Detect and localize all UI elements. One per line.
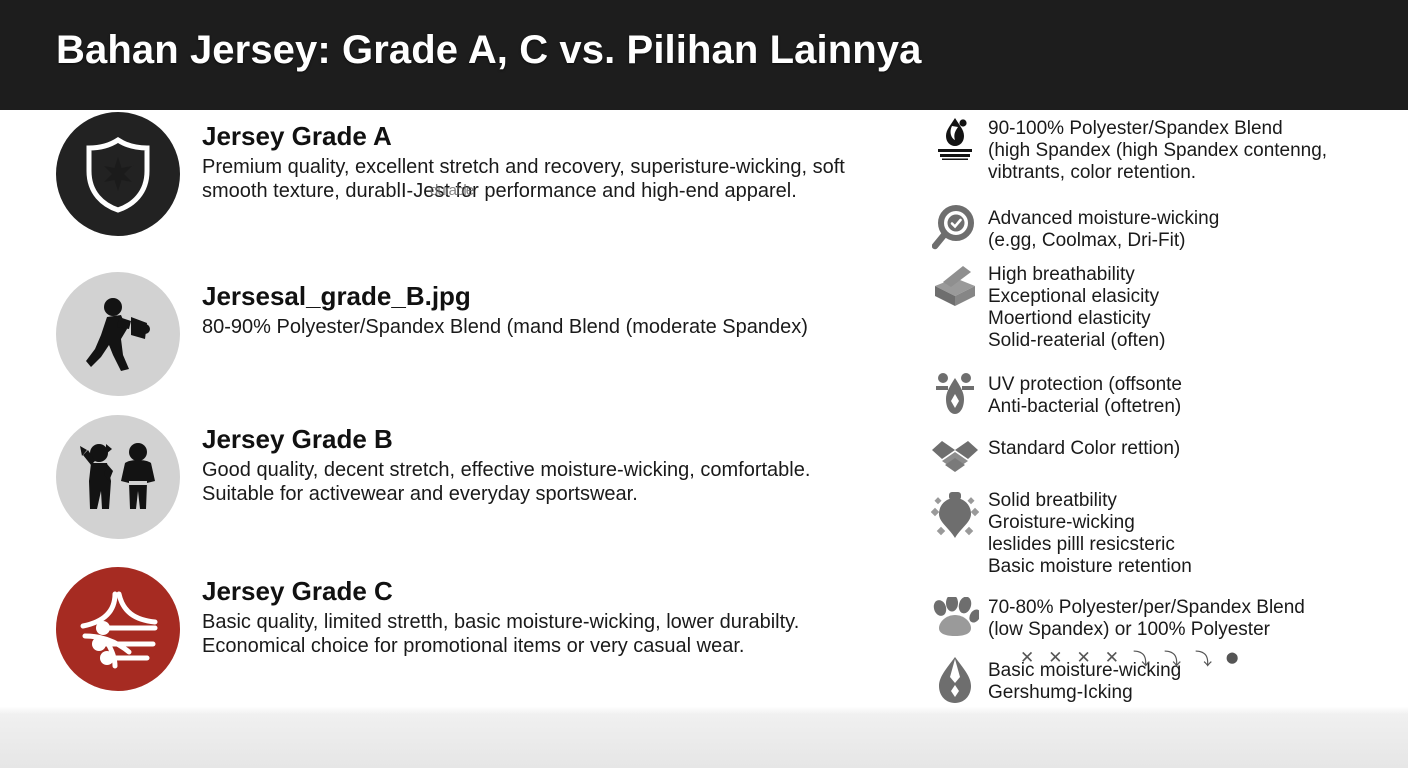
feature-solid-line1: Solid breatbility bbox=[988, 490, 1192, 512]
grade-a-desc-line1: Premium quality, excellent stretch and r… bbox=[202, 155, 845, 179]
paw-print-icon bbox=[930, 595, 980, 639]
open-box-icon bbox=[930, 262, 980, 308]
grade-list: Jersey Grade A Premium quality, excellen… bbox=[56, 112, 916, 712]
feature-solid-lines: Solid breatbility Groisture-wicking lesl… bbox=[988, 488, 1192, 578]
grade-bjpg-title: Jersesal_grade_B.jpg bbox=[202, 282, 808, 311]
two-people-icon bbox=[56, 415, 180, 539]
feature-lowblend-line1: 70-80% Polyester/per/Spandex Blend bbox=[988, 597, 1305, 619]
feature-wicking-line2: (e.gg, Coolmax, Dri-Fit) bbox=[988, 230, 1219, 252]
grade-a-text: Jersey Grade A Premium quality, excellen… bbox=[202, 112, 845, 203]
feature-color-line1: Standard Color rettion) bbox=[988, 438, 1180, 460]
grade-bjpg-desc-line1: 80-90% Polyester/Spandex Blend (mand Ble… bbox=[202, 315, 808, 339]
feature-row-blend[interactable]: 90-100% Polyester/Spandex Blend (high Sp… bbox=[930, 116, 1327, 184]
glyph-hook-1: ⤵ bbox=[1133, 645, 1150, 670]
glyph-cross-1: ✕ bbox=[1020, 648, 1034, 668]
grade-bjpg-text: Jersesal_grade_B.jpg 80-90% Polyester/Sp… bbox=[202, 272, 808, 339]
grade-a-desc: Premium quality, excellent stretch and r… bbox=[202, 155, 845, 203]
feature-row-wicking[interactable]: Advanced moisture-wicking (e.gg, Coolmax… bbox=[930, 206, 1219, 252]
feature-breathability-line2: Exceptional elasicity bbox=[988, 286, 1165, 308]
grade-c-title: Jersey Grade C bbox=[202, 577, 799, 606]
feature-row-lowblend[interactable]: 70-80% Polyester/per/Spandex Blend (low … bbox=[930, 595, 1305, 641]
glyph-dot: ⬤ bbox=[1226, 651, 1238, 664]
glyph-strip: ✕ ✕ ✕ ✕ ⤵ ⤵ ⤵ ⬤ bbox=[1020, 645, 1238, 670]
grade-b-title: Jersey Grade B bbox=[202, 425, 810, 454]
magnifier-check-icon bbox=[930, 206, 980, 250]
feature-wicking-line1: Advanced moisture-wicking bbox=[988, 208, 1219, 230]
running-person-icon bbox=[56, 272, 180, 396]
grade-b-text: Jersey Grade B Good quality, decent stre… bbox=[202, 415, 810, 506]
feature-basic-line2: Gershumg-Icking bbox=[988, 682, 1181, 704]
page-title: Bahan Jersey: Grade A, C vs. Pilihan Lai… bbox=[56, 28, 921, 73]
feature-blend-line3: vibtrants, color retention. bbox=[988, 162, 1327, 184]
glyph-cross-2: ✕ bbox=[1048, 648, 1062, 668]
feature-breathability-line3: Moertiond elasticity bbox=[988, 308, 1165, 330]
feature-breathability-lines: High breathability Exceptional elasicity… bbox=[988, 262, 1165, 352]
grade-a-desc-line2: smooth texture, durablI-Jest for perform… bbox=[202, 179, 845, 203]
grade-row-a[interactable]: Jersey Grade A Premium quality, excellen… bbox=[56, 112, 845, 236]
feature-solid-line3: leslides pilll resicsteric bbox=[988, 534, 1192, 556]
glyph-hook-3: ⤵ bbox=[1195, 645, 1212, 670]
shield-star-icon bbox=[56, 112, 180, 236]
grade-c-desc: Basic quality, limited stretth, basic mo… bbox=[202, 610, 799, 658]
glyph-hook-2: ⤵ bbox=[1164, 645, 1181, 670]
feature-row-solid[interactable]: Solid breatbility Groisture-wicking lesl… bbox=[930, 488, 1192, 578]
feature-blend-lines: 90-100% Polyester/Spandex Blend (high Sp… bbox=[988, 116, 1327, 184]
grade-row-bjpg[interactable]: Jersesal_grade_B.jpg 80-90% Polyester/Sp… bbox=[56, 272, 808, 396]
grade-row-b[interactable]: Jersey Grade B Good quality, decent stre… bbox=[56, 415, 810, 539]
feature-list: 90-100% Polyester/Spandex Blend (high Sp… bbox=[930, 110, 1400, 730]
feature-row-uv[interactable]: UV protection (offsonte Anti-bacterial (… bbox=[930, 372, 1182, 418]
feature-uv-line2: Anti-bacterial (oftetren) bbox=[988, 396, 1182, 418]
feature-breathability-line4: Solid-reaterial (often) bbox=[988, 330, 1165, 352]
feature-uv-lines: UV protection (offsonte Anti-bacterial (… bbox=[988, 372, 1182, 418]
grade-a-title: Jersey Grade A bbox=[202, 122, 845, 151]
glyph-cross-3: ✕ bbox=[1077, 648, 1091, 668]
layers-icon bbox=[930, 436, 980, 480]
feature-row-color[interactable]: Standard Color rettion) bbox=[930, 436, 1180, 480]
droplet-split-icon bbox=[930, 658, 980, 702]
feature-row-breathability[interactable]: High breathability Exceptional elasicity… bbox=[930, 262, 1165, 352]
slide-canvas: Bahan Jersey: Grade A, C vs. Pilihan Lai… bbox=[0, 0, 1408, 768]
bulb-droplet-icon bbox=[930, 488, 980, 536]
feature-uv-line1: UV protection (offsonte bbox=[988, 374, 1182, 396]
flame-droplet-lines-icon bbox=[930, 116, 980, 160]
feature-blend-line1: 90-100% Polyester/Spandex Blend bbox=[988, 118, 1327, 140]
feature-color-lines: Standard Color rettion) bbox=[988, 436, 1180, 460]
uv-shield-icon bbox=[930, 372, 980, 416]
feature-lowblend-line2: (low Spandex) or 100% Polyester bbox=[988, 619, 1305, 641]
feature-breathability-line1: High breathability bbox=[988, 264, 1165, 286]
grade-bjpg-desc: 80-90% Polyester/Spandex Blend (mand Ble… bbox=[202, 315, 808, 339]
feature-blend-line2: (high Spandex (high Spandex contenng, bbox=[988, 140, 1327, 162]
grade-row-c[interactable]: Jersey Grade C Basic quality, limited st… bbox=[56, 567, 799, 691]
network-lines-icon bbox=[56, 567, 180, 691]
header-bar: Bahan Jersey: Grade A, C vs. Pilihan Lai… bbox=[0, 0, 1408, 110]
grade-b-desc-line1: Good quality, decent stretch, effective … bbox=[202, 458, 810, 482]
grade-c-desc-line1: Basic quality, limited stretth, basic mo… bbox=[202, 610, 799, 634]
feature-wicking-lines: Advanced moisture-wicking (e.gg, Coolmax… bbox=[988, 206, 1219, 252]
grade-b-desc: Good quality, decent stretch, effective … bbox=[202, 458, 810, 506]
feature-solid-line4: Basic moisture retention bbox=[988, 556, 1192, 578]
grade-c-text: Jersey Grade C Basic quality, limited st… bbox=[202, 567, 799, 658]
grade-b-desc-line2: Suitable for activewear and everyday spo… bbox=[202, 482, 810, 506]
feature-solid-line2: Groisture-wicking bbox=[988, 512, 1192, 534]
glyph-cross-4: ✕ bbox=[1105, 648, 1119, 668]
grade-c-desc-line2: Economical choice for promotional items … bbox=[202, 634, 799, 658]
ghost-artifact-text: durable bbox=[430, 182, 473, 199]
feature-lowblend-lines: 70-80% Polyester/per/Spandex Blend (low … bbox=[988, 595, 1305, 641]
